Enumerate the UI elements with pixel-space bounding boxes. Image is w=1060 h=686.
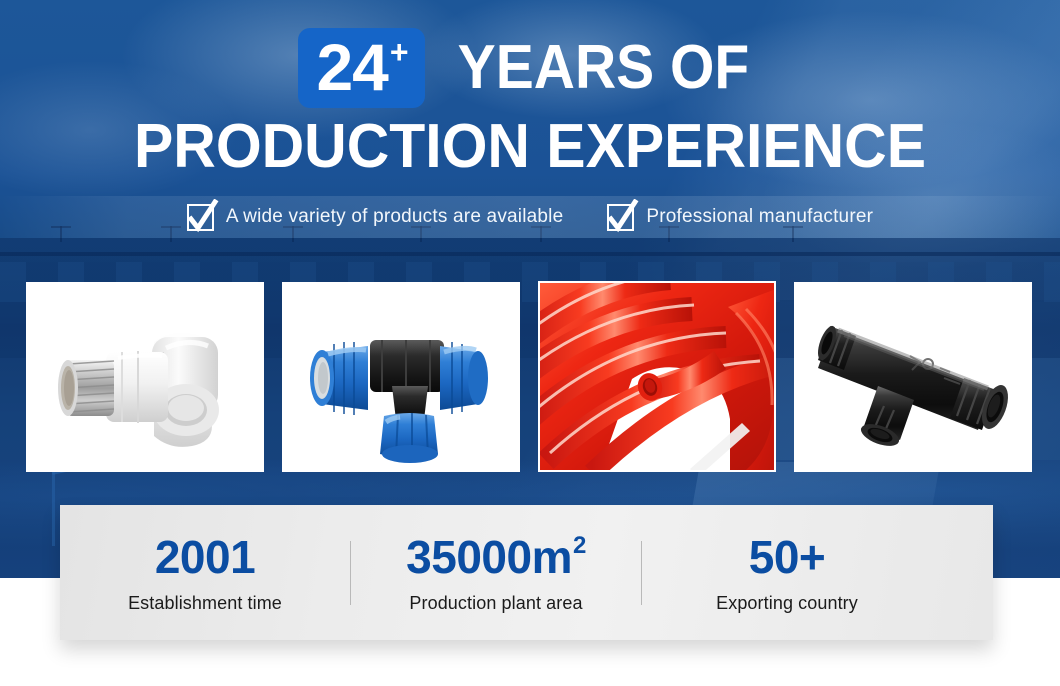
stat-superscript: 2 <box>573 531 586 561</box>
stat-label-exporting: Exporting country <box>716 593 858 614</box>
product-image-black-pex-tee[interactable] <box>794 282 1032 472</box>
headline-line-one: 24 + YEARS OF <box>0 22 1060 114</box>
product-image-row <box>26 282 1034 472</box>
product-image-red-pex-pipe-coil[interactable] <box>538 281 776 472</box>
stat-number-text: 50+ <box>749 531 826 583</box>
street-lamp-icon <box>52 472 55 546</box>
stat-exporting-country: 50+ Exporting country <box>642 531 932 614</box>
years-badge-plus: + <box>390 34 409 70</box>
headline-years-of: YEARS OF <box>457 37 749 99</box>
stat-value-exporting: 50+ <box>749 531 826 583</box>
checkbox-checked-icon <box>187 204 214 231</box>
headline-block: 24 + YEARS OF PRODUCTION EXPERIENCE <box>0 22 1060 182</box>
years-badge: 24 + <box>298 28 424 108</box>
statistics-panel: 2001 Establishment time 35000m 2 Product… <box>60 505 993 640</box>
feature-strip: A wide variety of products are available… <box>0 196 1060 238</box>
feature-label-variety: A wide variety of products are available <box>226 206 564 228</box>
product-image-blue-pe-compression-tee[interactable] <box>282 282 520 472</box>
years-badge-number: 24 <box>316 34 387 100</box>
stat-establishment-time: 2001 Establishment time <box>60 531 350 614</box>
feature-item-variety: A wide variety of products are available <box>187 204 564 231</box>
feature-label-manufacturer: Professional manufacturer <box>646 206 873 228</box>
product-image-white-ppr-elbow[interactable] <box>26 282 264 472</box>
stat-production-plant-area: 35000m 2 Production plant area <box>351 531 641 614</box>
stat-number-text: 2001 <box>155 531 255 583</box>
stat-label-establishment: Establishment time <box>128 593 282 614</box>
stat-value-plant-area: 35000m 2 <box>406 531 586 583</box>
feature-item-manufacturer: Professional manufacturer <box>607 204 873 231</box>
stat-number-text: 35000m <box>406 531 572 583</box>
checkbox-checked-icon <box>607 204 634 231</box>
production-experience-banner: 24 + YEARS OF PRODUCTION EXPERIENCE A wi… <box>0 0 1060 686</box>
stat-label-plant-area: Production plant area <box>409 593 582 614</box>
stat-value-establishment: 2001 <box>155 531 255 583</box>
headline-line-two: PRODUCTION EXPERIENCE <box>27 112 1034 182</box>
